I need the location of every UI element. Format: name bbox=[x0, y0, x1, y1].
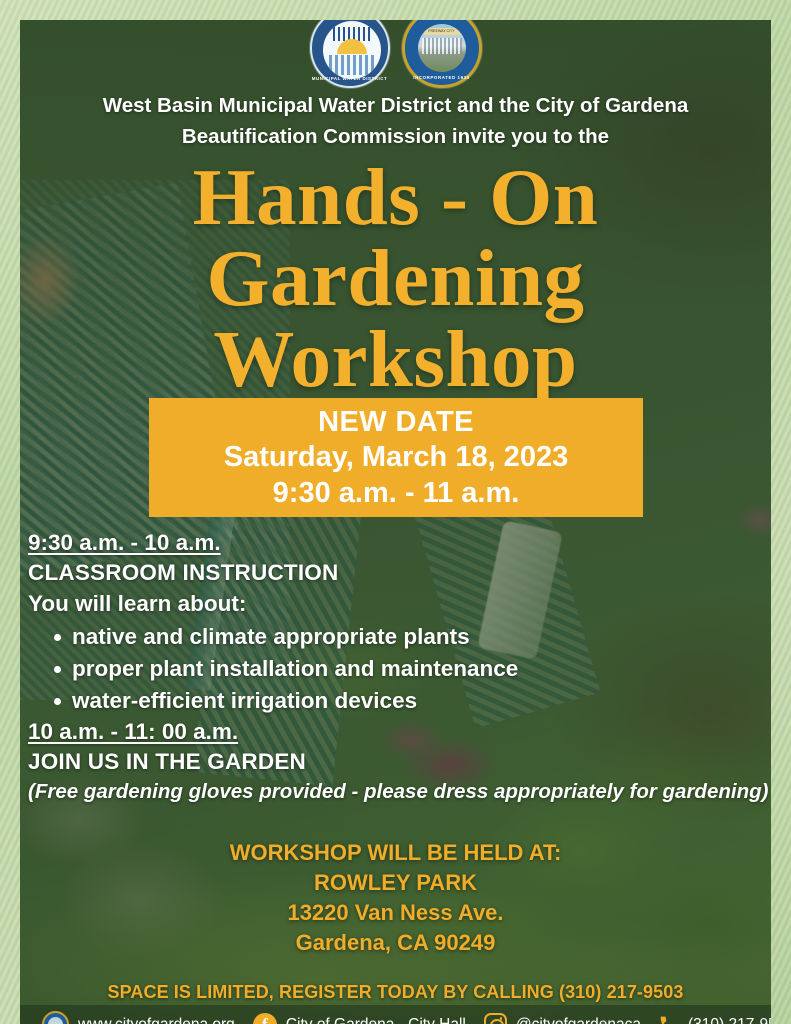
gardena-seal-bottom-text: INCORPORATED 1930 bbox=[405, 75, 479, 80]
venue-name: ROWLEY PARK bbox=[20, 868, 771, 898]
water-waves-icon bbox=[329, 55, 375, 75]
event-time: 9:30 a.m. - 11 a.m. bbox=[273, 475, 520, 511]
west-basin-seal-graphic bbox=[323, 21, 381, 79]
list-item: water-efficient irrigation devices bbox=[28, 685, 763, 717]
phone-icon bbox=[659, 1015, 679, 1024]
sun-icon bbox=[337, 39, 367, 54]
phone-number[interactable]: (310) 217-9503 bbox=[688, 1016, 771, 1024]
contact-bar: www.cityofgardena.org f City of Gardena … bbox=[20, 1005, 771, 1024]
invite-line-1: West Basin Municipal Water District and … bbox=[42, 90, 749, 121]
west-basin-seal-icon: WEST BASIN MUNICIPAL WATER DISTRICT bbox=[310, 20, 390, 88]
instagram-icon[interactable] bbox=[484, 1013, 507, 1024]
facebook-handle[interactable]: City of Gardena - City Hall bbox=[286, 1016, 466, 1024]
session-1-time: 9:30 a.m. - 10 a.m. bbox=[28, 528, 763, 557]
session-1-subheading: You will learn about: bbox=[28, 588, 763, 619]
city-of-gardena-seal-icon: CITY OF GARDENA FREEWAY CITY INCORPORATE… bbox=[402, 20, 482, 88]
invite-line-2: Beautification Commission invite you to … bbox=[42, 121, 749, 152]
learning-topics-list: native and climate appropriate plants pr… bbox=[28, 621, 763, 717]
gardena-seal-top-text: CITY OF GARDENA bbox=[405, 20, 479, 22]
website-text[interactable]: www.cityofgardena.org bbox=[78, 1016, 235, 1024]
list-item: native and climate appropriate plants bbox=[28, 621, 763, 653]
session-1-heading: CLASSROOM INSTRUCTION bbox=[28, 557, 763, 588]
event-date: Saturday, March 18, 2023 bbox=[224, 439, 568, 475]
new-date-label: NEW DATE bbox=[318, 405, 474, 439]
facebook-icon[interactable]: f bbox=[253, 1013, 277, 1024]
list-item: proper plant installation and maintenanc… bbox=[28, 653, 763, 685]
register-callout: SPACE IS LIMITED, REGISTER TODAY BY CALL… bbox=[20, 982, 771, 1003]
gardena-seal-graphic: FREEWAY CITY bbox=[418, 24, 466, 72]
title-line-3: Workshop bbox=[20, 319, 771, 400]
page-title: Hands - On Gardening Workshop bbox=[20, 157, 771, 400]
invite-header: West Basin Municipal Water District and … bbox=[20, 90, 771, 152]
venue-label: WORKSHOP WILL BE HELD AT: bbox=[20, 838, 771, 868]
flyer-content: WEST BASIN MUNICIPAL WATER DISTRICT CITY… bbox=[20, 20, 771, 1024]
flyer-panel: WEST BASIN MUNICIPAL WATER DISTRICT CITY… bbox=[20, 20, 771, 1024]
gardena-seal-banner-text: FREEWAY CITY bbox=[424, 28, 460, 35]
venue-section: WORKSHOP WILL BE HELD AT: ROWLEY PARK 13… bbox=[20, 838, 771, 958]
session-2-time: 10 a.m. - 11: 00 a.m. bbox=[28, 717, 763, 746]
instagram-handle[interactable]: @cityofgardenaca bbox=[516, 1016, 641, 1024]
title-line-1: Hands - On bbox=[20, 157, 771, 238]
venue-city: Gardena, CA 90249 bbox=[20, 928, 771, 958]
west-basin-seal-bottom-text: MUNICIPAL WATER DISTRICT bbox=[312, 76, 388, 81]
session-2-heading: JOIN US IN THE GARDEN bbox=[28, 746, 763, 777]
session-2-note: (Free gardening gloves provided - please… bbox=[28, 777, 763, 807]
venue-street: 13220 Van Ness Ave. bbox=[20, 898, 771, 928]
logo-row: WEST BASIN MUNICIPAL WATER DISTRICT CITY… bbox=[20, 20, 771, 88]
flyer: WEST BASIN MUNICIPAL WATER DISTRICT CITY… bbox=[0, 0, 791, 1024]
city-seal-small-icon bbox=[42, 1011, 69, 1024]
date-banner: NEW DATE Saturday, March 18, 2023 9:30 a… bbox=[149, 398, 643, 517]
cityscape-icon bbox=[422, 38, 462, 54]
title-line-2: Gardening bbox=[20, 238, 771, 319]
schedule-section: 9:30 a.m. - 10 a.m. CLASSROOM INSTRUCTIO… bbox=[28, 528, 763, 807]
